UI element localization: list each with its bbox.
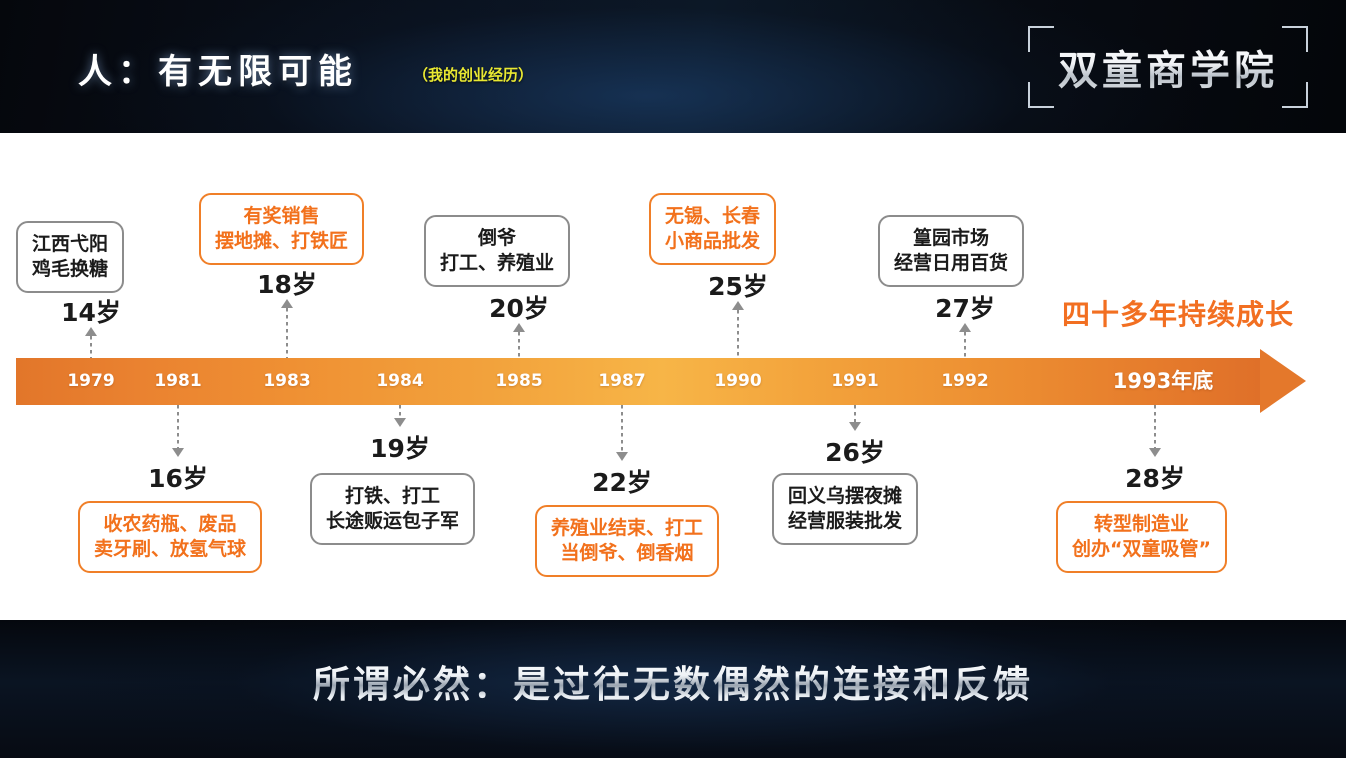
brand-logo: 双童商学院 bbox=[1028, 26, 1308, 108]
timeline-connector bbox=[737, 310, 739, 358]
timeline-event-box[interactable]: 无锡、长春小商品批发 bbox=[649, 193, 776, 265]
timeline-connector bbox=[1154, 405, 1156, 450]
timeline-event-box[interactable]: 篁园市场经营日用百货 bbox=[878, 215, 1024, 287]
page-subtitle: （我的创业经历） bbox=[413, 64, 533, 85]
event-line-1: 养殖业结束、打工 bbox=[551, 516, 703, 541]
timeline-year-1991: 1991 bbox=[795, 358, 915, 405]
timeline-event-box[interactable]: 养殖业结束、打工当倒爷、倒香烟 bbox=[535, 505, 719, 577]
timeline-age-label: 22岁 bbox=[552, 463, 692, 499]
timeline-canvas: 四十多年持续成长 1979198119831984198519871990199… bbox=[0, 133, 1346, 620]
event-line-2: 创办“双童吸管” bbox=[1072, 537, 1211, 562]
connector-arrow-up-icon bbox=[513, 323, 525, 332]
timeline-event-box[interactable]: 回义乌摆夜摊经营服装批发 bbox=[772, 473, 918, 545]
timeline-age-label: 20岁 bbox=[449, 289, 589, 325]
timeline-age-label: 25岁 bbox=[668, 267, 808, 303]
timeline-year-1981: 1981 bbox=[118, 358, 238, 405]
timeline-year-1992: 1992 bbox=[905, 358, 1025, 405]
connector-arrow-up-icon bbox=[281, 299, 293, 308]
connector-arrow-down-icon bbox=[1149, 448, 1161, 457]
event-line-2: 经营日用百货 bbox=[894, 251, 1008, 276]
growth-note: 四十多年持续成长 bbox=[1062, 293, 1294, 333]
timeline-age-label: 26岁 bbox=[785, 433, 925, 469]
timeline-event-box[interactable]: 有奖销售摆地摊、打铁匠 bbox=[199, 193, 364, 265]
slide-header: 人：有无限可能 （我的创业经历） 双童商学院 bbox=[0, 0, 1346, 133]
timeline-event-box[interactable]: 倒爷打工、养殖业 bbox=[424, 215, 570, 287]
event-line-1: 转型制造业 bbox=[1072, 512, 1211, 537]
timeline-age-label: 14岁 bbox=[21, 293, 161, 329]
timeline-arrowhead-icon bbox=[1260, 349, 1306, 413]
connector-arrow-up-icon bbox=[85, 327, 97, 336]
slide-root: 人：有无限可能 （我的创业经历） 双童商学院 四十多年持续成长 19791981… bbox=[0, 0, 1346, 758]
page-title: 人：有无限可能 bbox=[78, 44, 358, 93]
timeline-year-1990: 1990 bbox=[678, 358, 798, 405]
timeline-age-label: 18岁 bbox=[217, 265, 357, 301]
connector-arrow-down-icon bbox=[849, 422, 861, 431]
connector-arrow-down-icon bbox=[394, 418, 406, 427]
event-line-1: 无锡、长春 bbox=[665, 204, 760, 229]
connector-arrow-up-icon bbox=[732, 301, 744, 310]
footer-caption: 所谓必然：是过往无数偶然的连接和反馈 bbox=[0, 654, 1346, 708]
timeline-year-1984: 1984 bbox=[340, 358, 460, 405]
event-line-2: 长途贩运包子军 bbox=[326, 509, 459, 534]
connector-arrow-down-icon bbox=[172, 448, 184, 457]
timeline-connector bbox=[286, 308, 288, 358]
event-line-1: 倒爷 bbox=[440, 226, 554, 251]
event-line-2: 摆地摊、打铁匠 bbox=[215, 229, 348, 254]
event-line-2: 打工、养殖业 bbox=[440, 251, 554, 276]
event-line-1: 篁园市场 bbox=[894, 226, 1008, 251]
timeline-event-box[interactable]: 收农药瓶、废品卖牙刷、放氢气球 bbox=[78, 501, 262, 573]
timeline-age-label: 28岁 bbox=[1085, 459, 1225, 495]
timeline-event-box[interactable]: 江西弋阳鸡毛换糖 bbox=[16, 221, 124, 293]
event-line-2: 卖牙刷、放氢气球 bbox=[94, 537, 246, 562]
event-line-2: 鸡毛换糖 bbox=[32, 257, 108, 282]
event-line-1: 打铁、打工 bbox=[326, 484, 459, 509]
event-line-1: 收农药瓶、废品 bbox=[94, 512, 246, 537]
timeline-event-box[interactable]: 转型制造业创办“双童吸管” bbox=[1056, 501, 1227, 573]
event-line-2: 小商品批发 bbox=[665, 229, 760, 254]
event-line-2: 经营服装批发 bbox=[788, 509, 902, 534]
timeline-year-1987: 1987 bbox=[562, 358, 682, 405]
slide-footer: 所谓必然：是过往无数偶然的连接和反馈 bbox=[0, 620, 1346, 758]
event-line-1: 回义乌摆夜摊 bbox=[788, 484, 902, 509]
timeline-connector bbox=[177, 405, 179, 450]
timeline-age-label: 19岁 bbox=[330, 429, 470, 465]
timeline-event-box[interactable]: 打铁、打工长途贩运包子军 bbox=[310, 473, 475, 545]
connector-arrow-up-icon bbox=[959, 323, 971, 332]
timeline-year-1993年底: 1993年底 bbox=[1103, 358, 1223, 405]
timeline-connector bbox=[518, 332, 520, 358]
timeline-age-label: 16岁 bbox=[108, 459, 248, 495]
timeline-year-1983: 1983 bbox=[227, 358, 347, 405]
connector-arrow-down-icon bbox=[616, 452, 628, 461]
timeline-year-1985: 1985 bbox=[459, 358, 579, 405]
timeline-connector bbox=[90, 336, 92, 358]
event-line-1: 江西弋阳 bbox=[32, 232, 108, 257]
timeline-age-label: 27岁 bbox=[895, 289, 1035, 325]
timeline-connector bbox=[621, 405, 623, 454]
event-line-1: 有奖销售 bbox=[215, 204, 348, 229]
event-line-2: 当倒爷、倒香烟 bbox=[551, 541, 703, 566]
brand-logo-text: 双童商学院 bbox=[1028, 26, 1308, 108]
timeline-connector bbox=[964, 332, 966, 358]
